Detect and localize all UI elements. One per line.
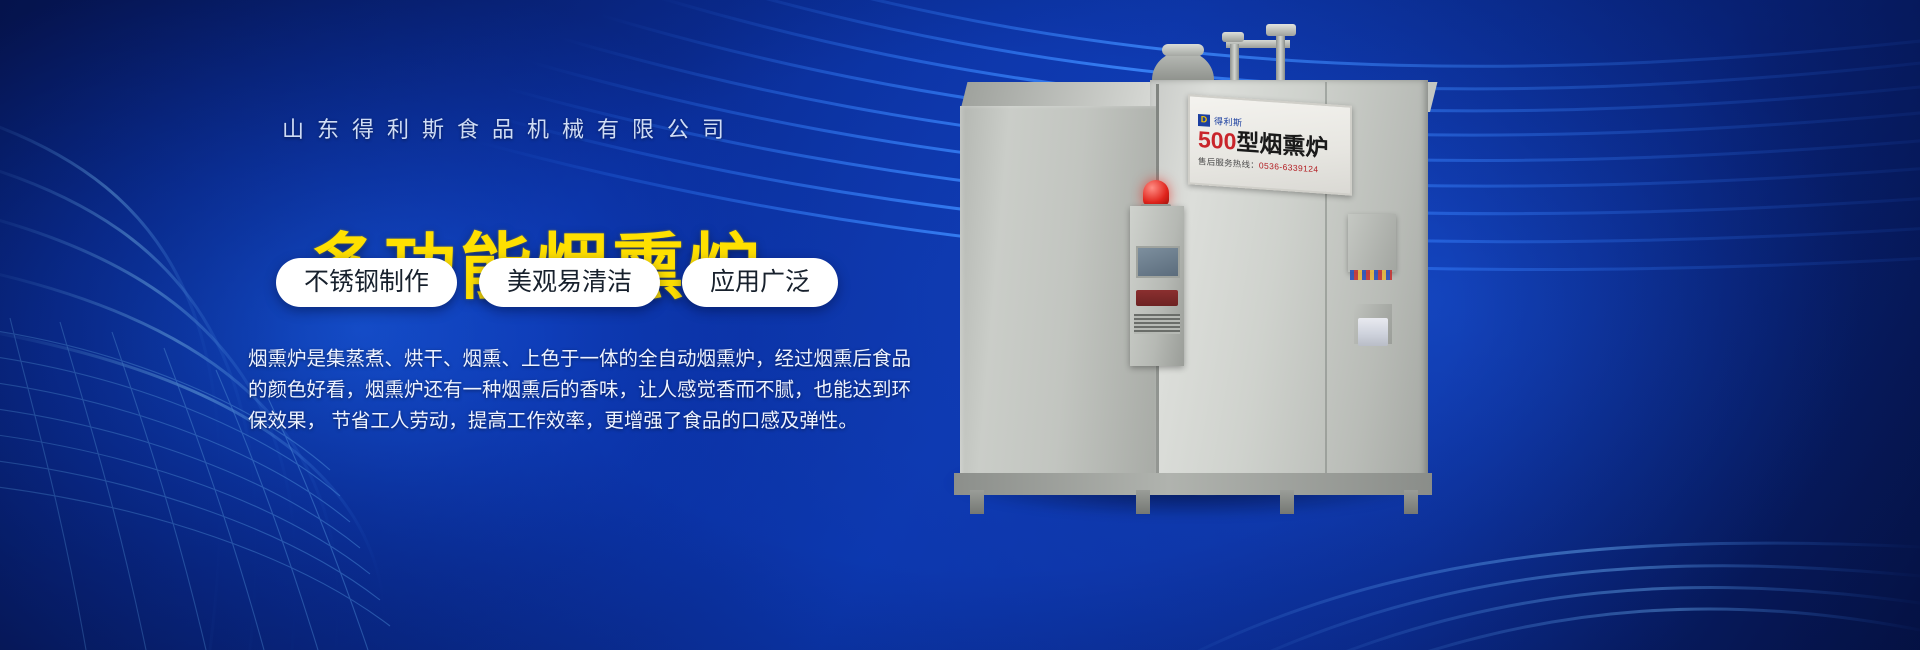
feature-pill-stainless[interactable]: 不锈钢制作 bbox=[276, 258, 457, 307]
machine-leg bbox=[1404, 490, 1418, 514]
nameplate-model-suffix: 型烟熏炉 bbox=[1236, 129, 1328, 161]
machine-leg bbox=[1280, 490, 1294, 514]
feature-pill-wide-use[interactable]: 应用广泛 bbox=[682, 258, 838, 307]
nameplate-model-number: 500 bbox=[1198, 126, 1236, 155]
description-line-3: 保效果， 节省工人劳动，提高工作效率，更增强了食品的口感及弹性。 bbox=[248, 406, 814, 437]
control-panel-buttons bbox=[1136, 290, 1178, 306]
product-description: 烟熏炉是集蒸煮、烘干、烟熏、上色于一体的全自动烟熏炉，经过烟熏后食品 的颜色好看… bbox=[248, 344, 814, 437]
control-panel-vent bbox=[1134, 314, 1180, 334]
control-panel-box bbox=[1130, 206, 1184, 366]
machine-leg bbox=[1136, 490, 1150, 514]
machine-base-plinth bbox=[954, 473, 1432, 495]
description-line-2: 的颜色好看，烟熏炉还有一种烟熏后的香味，让人感觉香而不腻，也能达到环 bbox=[248, 375, 814, 406]
junction-box bbox=[1348, 214, 1396, 272]
exhaust-stack bbox=[1152, 52, 1214, 82]
junction-box-wires bbox=[1350, 270, 1392, 280]
company-name: 山东得利斯食品机械有限公司 bbox=[282, 112, 737, 144]
exhaust-stack-cap bbox=[1162, 44, 1204, 56]
cabinet-door-face bbox=[960, 106, 1156, 480]
description-line-1: 烟熏炉是集蒸煮、烘干、烟熏、上色于一体的全自动烟熏炉，经过烟熏后食品 bbox=[248, 344, 814, 375]
machine-leg bbox=[970, 490, 984, 514]
brand-logo-mark: D bbox=[1198, 114, 1210, 127]
pipe-valve-left bbox=[1222, 32, 1244, 42]
banner-copy: 山东得利斯食品机械有限公司 多功能烟熏炉 不锈钢制作 美观易清洁 应用广泛 烟熏… bbox=[0, 0, 860, 650]
nameplate-hotline-label: 售后服务热线： bbox=[1198, 156, 1259, 170]
control-panel-display bbox=[1136, 246, 1180, 278]
nameplate-hotline-number: 0536-6339124 bbox=[1259, 160, 1319, 174]
alarm-beacon-light bbox=[1143, 180, 1169, 206]
smoke-oven-image: D 得利斯 500型烟熏炉 售后服务热线：0536-6339124 bbox=[930, 18, 1570, 538]
feature-pill-list: 不锈钢制作 美观易清洁 应用广泛 bbox=[276, 258, 838, 307]
junction-box-bottles bbox=[1358, 318, 1388, 346]
machine-nameplate: D 得利斯 500型烟熏炉 售后服务热线：0536-6339124 bbox=[1188, 94, 1352, 195]
pipe-valve-right bbox=[1266, 24, 1296, 36]
feature-pill-easy-clean[interactable]: 美观易清洁 bbox=[479, 258, 660, 307]
product-banner: 山东得利斯食品机械有限公司 多功能烟熏炉 不锈钢制作 美观易清洁 应用广泛 烟熏… bbox=[0, 0, 1920, 650]
